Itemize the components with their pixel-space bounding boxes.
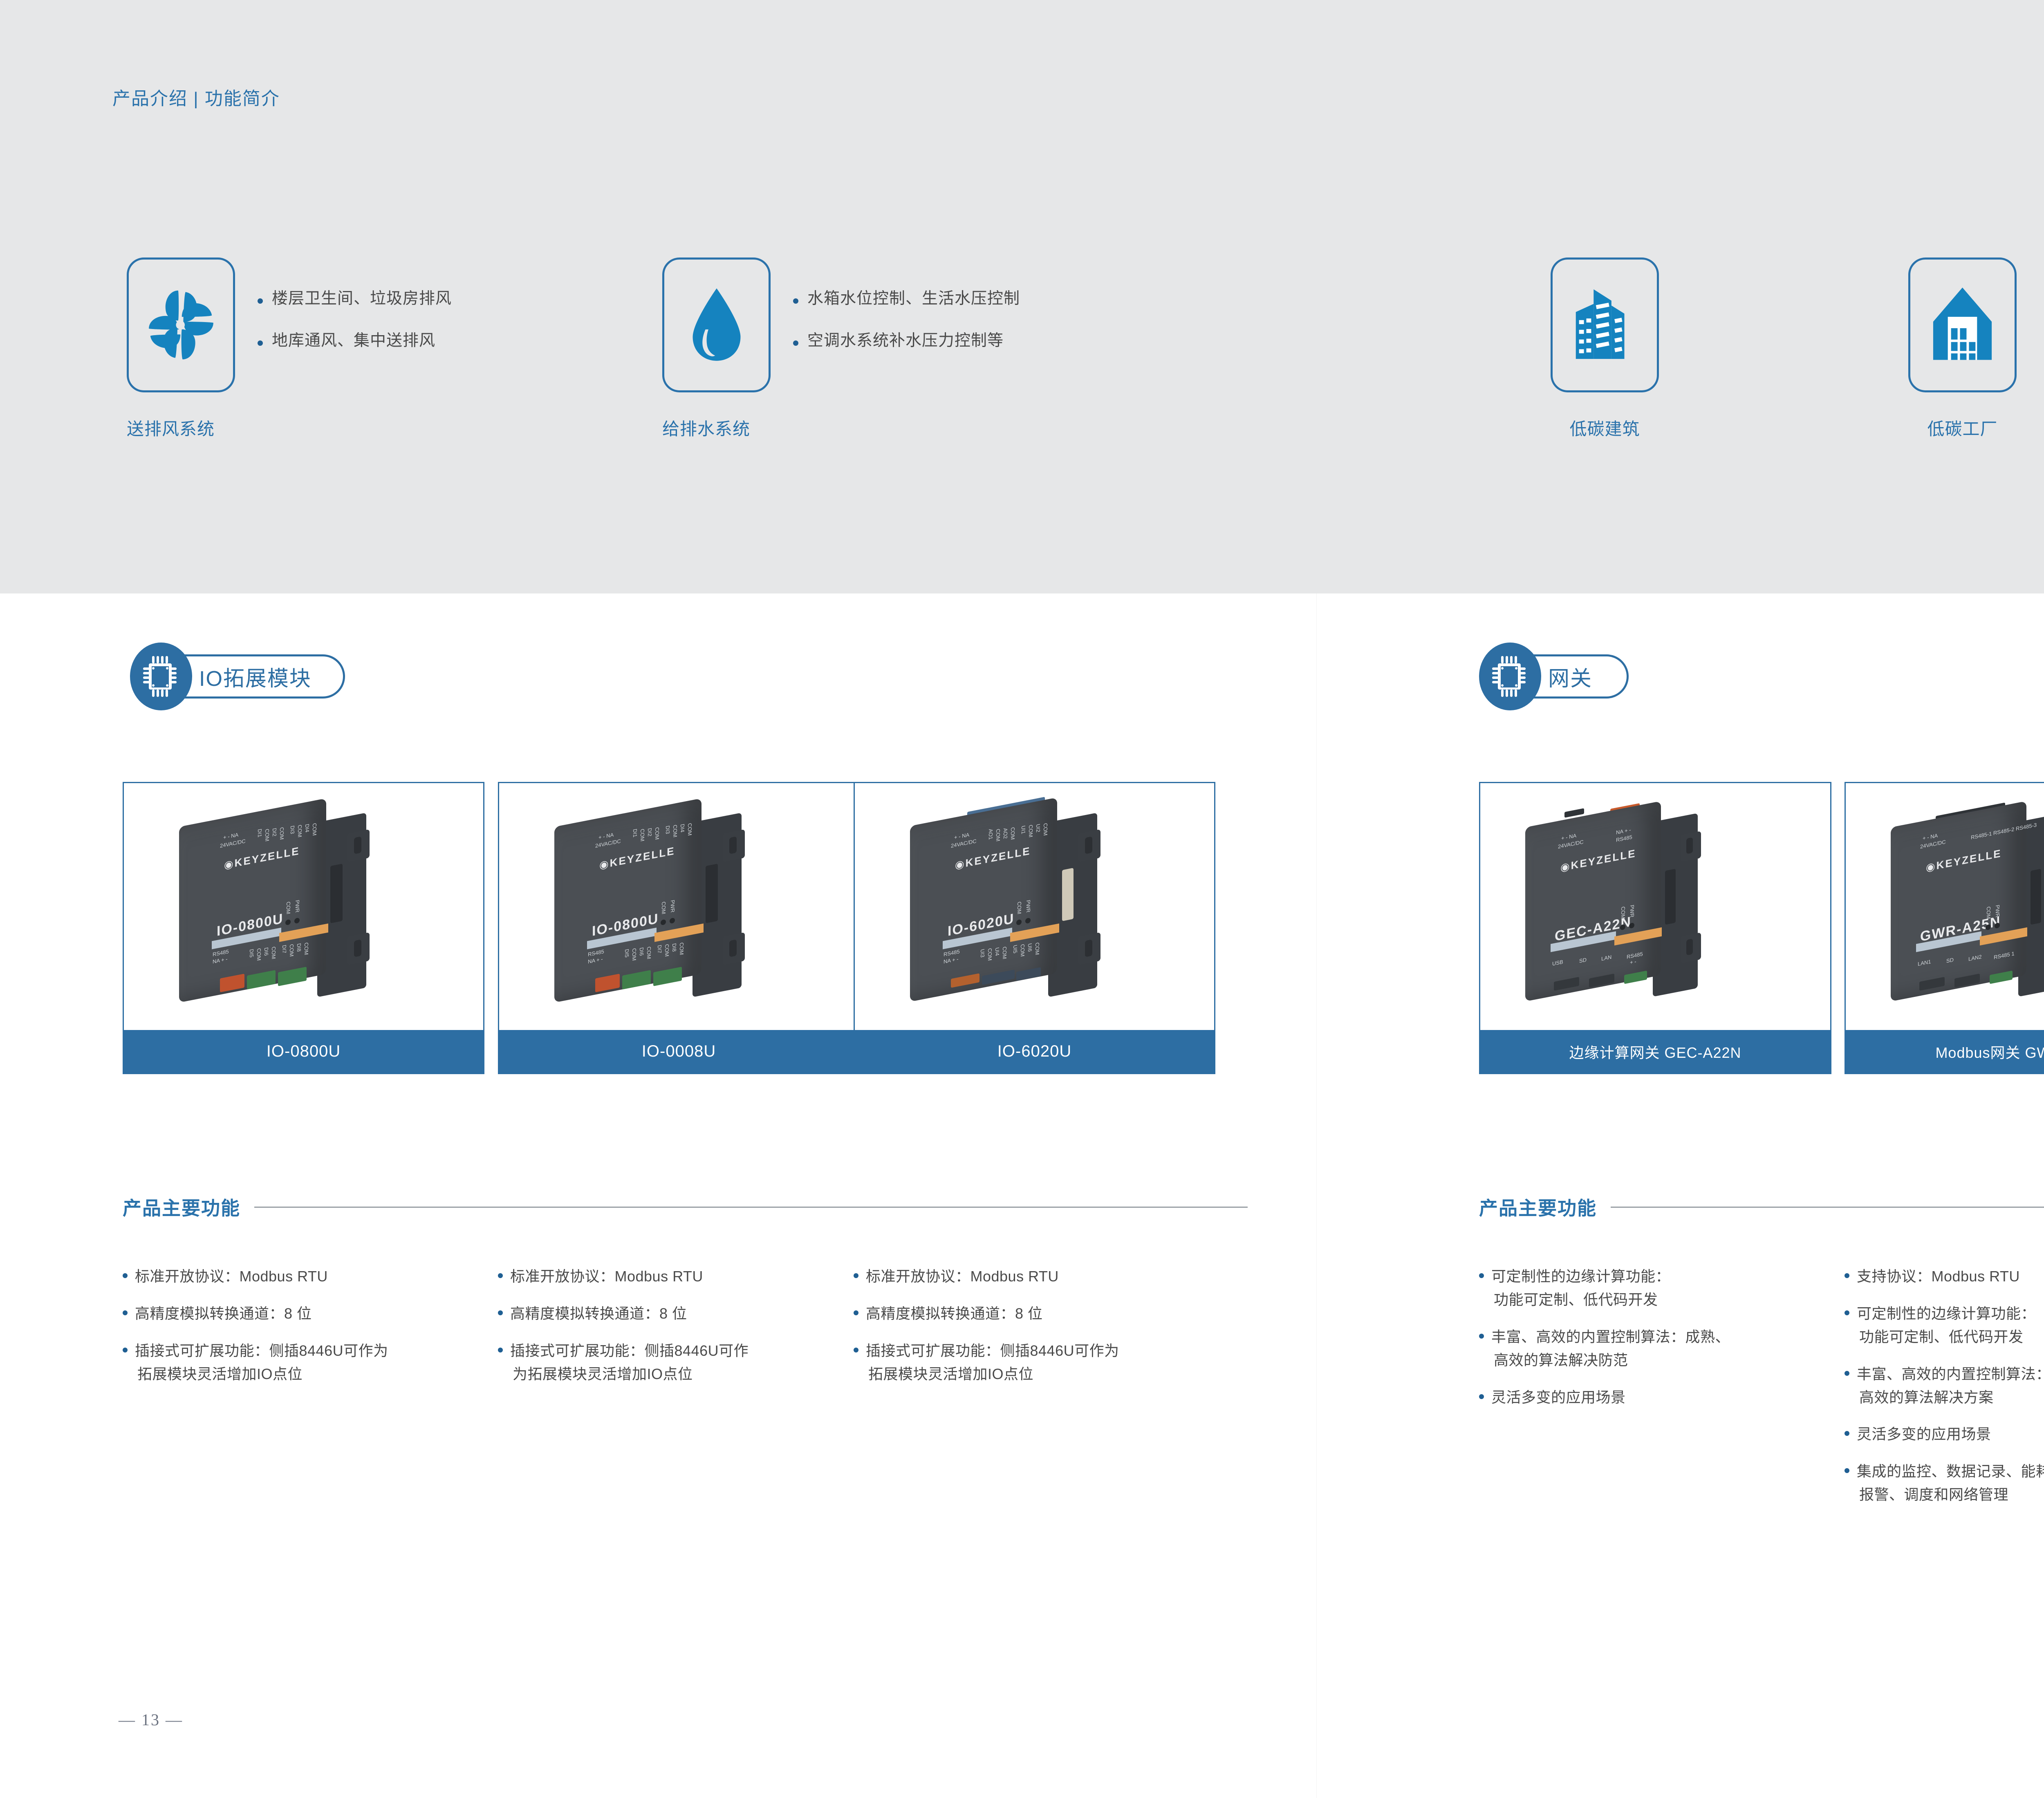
application-caption-water: 给排水系统 xyxy=(662,415,771,440)
bullet-dot-icon xyxy=(854,1273,858,1278)
feature-text: 高精度模拟转换通道：8 位 xyxy=(866,1302,1043,1326)
feature-item: 插接式可扩展功能：侧插8446U可作为 拓展模块灵活增加IO点位 xyxy=(854,1339,1213,1386)
feature-text-line1: 丰富、高效的内置控制算法：成熟、 xyxy=(1491,1328,1730,1345)
bullet-dot-icon xyxy=(1845,1273,1849,1278)
feature-item: 丰富、高效的内置控制算法：成熟、 高效的算法解决方案 xyxy=(1845,1363,2044,1409)
bullet-dot-icon xyxy=(1479,1273,1484,1278)
product-image-io-0800u: + - NA 24VAC/DC DI1 COM DI2 COM DI3 COM … xyxy=(124,783,483,1030)
features-header-left: 产品主要功能 xyxy=(123,1193,1248,1220)
feature-text-line2: 拓展模块灵活增加IO点位 xyxy=(866,1363,1119,1386)
section-badge-gateway: 网关 xyxy=(1479,643,1629,710)
feature-text: 丰富、高效的内置控制算法：成熟、 高效的算法解决方案 xyxy=(1857,1363,2044,1409)
feature-item: 插接式可扩展功能：侧插8446U可作 为拓展模块灵活增加IO点位 xyxy=(498,1339,858,1386)
feature-item: 丰富、高效的内置控制算法：成熟、 高效的算法解决防范 xyxy=(1479,1326,1831,1372)
bullet-dot-icon xyxy=(1479,1394,1484,1399)
feature-item: 集成的监控、数据记录、能耗计量、 报警、调度和网络管理 xyxy=(1845,1460,2044,1507)
office-building-icon xyxy=(1566,284,1644,366)
product-label-gec-a22n: 边缘计算网关 GEC-A22N xyxy=(1480,1030,1830,1073)
product-image-io-6020u: + - NA 24VAC/DC AO1 COM AO2 COM UI1 COM … xyxy=(855,783,1214,1030)
feature-text: 灵活多变的应用场景 xyxy=(1857,1423,1991,1446)
feature-text-line1: 插接式可扩展功能：侧插8446U可作为 xyxy=(866,1342,1119,1359)
device-render: + - NA 24VAC/DC NA + - RS485 ◉KEYZELLE G… xyxy=(1509,799,1795,1004)
bullet-dot-icon xyxy=(123,1348,128,1352)
office-building-icon-frame xyxy=(1551,257,1659,392)
application-caption-ventilation: 送排风系统 xyxy=(127,415,235,440)
feature-text: 高精度模拟转换通道：8 位 xyxy=(135,1302,312,1326)
application-bullets-ventilation: 楼层卫生间、垃圾房排风 地库通风、集中送排风 xyxy=(258,289,452,351)
feature-item: 灵活多变的应用场景 xyxy=(1479,1386,1831,1409)
feature-item: 插接式可扩展功能：侧插8446U可作为 拓展模块灵活增加IO点位 xyxy=(123,1339,482,1386)
bullet-dot-icon xyxy=(1845,1431,1849,1436)
bullet-item: 楼层卫生间、垃圾房排风 xyxy=(258,289,452,309)
fan-icon xyxy=(144,286,218,364)
bullet-dot-icon xyxy=(854,1348,858,1352)
bullet-dot-icon xyxy=(793,298,798,304)
section-badge-label-gateway: 网关 xyxy=(1548,661,1592,692)
bullet-dot-icon xyxy=(793,340,798,346)
bullet-dot-icon xyxy=(1845,1310,1849,1315)
features-column-1: 标准开放协议：Modbus RTU 高精度模拟转换通道：8 位 插接式可扩展功能… xyxy=(123,1265,482,1400)
feature-text-line1: 插接式可扩展功能：侧插8446U可作为 xyxy=(135,1342,388,1359)
product-card-io-0008u[interactable]: + - NA 24VAC/DC DI1 COM DI2 COM DI3 COM … xyxy=(498,782,860,1074)
feature-text: 插接式可扩展功能：侧插8446U可作为 拓展模块灵活增加IO点位 xyxy=(866,1339,1119,1386)
factory-icon-frame xyxy=(1908,257,2017,392)
feature-item: 标准开放协议：Modbus RTU xyxy=(123,1265,482,1288)
application-block-ventilation: 送排风系统 楼层卫生间、垃圾房排风 地库通风、集中送排风 xyxy=(127,257,235,440)
chip-icon xyxy=(142,654,180,699)
feature-text-line2: 功能可定制、低代码开发 xyxy=(1491,1288,1670,1312)
water-drop-icon-frame xyxy=(662,257,771,392)
features-column-5: 支持协议：Modbus RTU 可定制性的边缘计算功能： 功能可定制、低代码开发… xyxy=(1845,1265,2044,1520)
features-column-2: 标准开放协议：Modbus RTU 高精度模拟转换通道：8 位 插接式可扩展功能… xyxy=(498,1265,858,1400)
application-bullets-water: 水箱水位控制、生活水压控制 空调水系统补水压力控制等 xyxy=(793,289,1020,351)
feature-item: 可定制性的边缘计算功能： 功能可定制、低代码开发 xyxy=(1479,1265,1831,1312)
bullet-dot-icon xyxy=(258,298,263,304)
feature-text-line1: 可定制性的边缘计算功能： xyxy=(1857,1305,2036,1322)
feature-text-line2: 高效的算法解决方案 xyxy=(1857,1386,2044,1409)
feature-text: 高精度模拟转换通道：8 位 xyxy=(510,1302,687,1326)
product-card-io-0800u[interactable]: + - NA 24VAC/DC DI1 COM DI2 COM DI3 COM … xyxy=(123,782,484,1074)
bullet-dot-icon xyxy=(498,1273,503,1278)
page-spine-divider xyxy=(1316,593,1317,1798)
feature-text: 插接式可扩展功能：侧插8446U可作 为拓展模块灵活增加IO点位 xyxy=(510,1339,749,1386)
page-header-left: 产品介绍 | 功能简介 xyxy=(112,84,280,110)
features-header-right: 产品主要功能 xyxy=(1479,1193,2044,1220)
feature-text-line2: 高效的算法解决防范 xyxy=(1491,1349,1730,1372)
product-label-io-0800u: IO-0800U xyxy=(124,1030,483,1073)
bullet-dot-icon xyxy=(1845,1371,1849,1376)
feature-text-line2: 为拓展模块灵活增加IO点位 xyxy=(510,1363,749,1386)
factory-icon xyxy=(1927,284,1998,366)
scenario-block-factory: 低碳工厂 xyxy=(1908,257,2017,440)
product-image-io-0008u: + - NA 24VAC/DC DI1 COM DI2 COM DI3 COM … xyxy=(499,783,858,1030)
features-title-left: 产品主要功能 xyxy=(123,1193,240,1220)
bullet-dot-icon xyxy=(123,1310,128,1315)
bullet-text: 空调水系统补水压力控制等 xyxy=(807,331,1004,351)
water-drop-icon xyxy=(686,286,747,364)
feature-text: 标准开放协议：Modbus RTU xyxy=(510,1265,703,1288)
chip-icon xyxy=(1491,654,1529,699)
feature-item: 高精度模拟转换通道：8 位 xyxy=(498,1302,858,1326)
feature-item: 高精度模拟转换通道：8 位 xyxy=(123,1302,482,1326)
features-rule-right xyxy=(1611,1207,2044,1208)
device-render: + - NA 24VAC/DC RS485-1 RS485-2 RS485-3 … xyxy=(1874,799,2044,1004)
features-rule-left xyxy=(254,1207,1248,1208)
features-title-right: 产品主要功能 xyxy=(1479,1193,1597,1220)
feature-item: 可定制性的边缘计算功能： 功能可定制、低代码开发 xyxy=(1845,1302,2044,1349)
bullet-item: 空调水系统补水压力控制等 xyxy=(793,331,1020,351)
chip-icon-circle xyxy=(1479,643,1541,710)
product-label-gwr-a25n: Modbus网关 GWR-A25N xyxy=(1846,1030,2044,1073)
feature-item: 灵活多变的应用场景 xyxy=(1845,1423,2044,1446)
application-block-water: 给排水系统 水箱水位控制、生活水压控制 空调水系统补水压力控制等 xyxy=(662,257,771,440)
scenario-block-building: 低碳建筑 xyxy=(1551,257,1659,440)
feature-text: 支持协议：Modbus RTU xyxy=(1857,1265,2020,1288)
page-number-left: — 13 — xyxy=(119,1710,183,1729)
product-label-io-6020u: IO-6020U xyxy=(855,1030,1214,1073)
feature-text: 标准开放协议：Modbus RTU xyxy=(866,1265,1059,1288)
fan-icon-frame xyxy=(127,257,235,392)
feature-text: 可定制性的边缘计算功能： 功能可定制、低代码开发 xyxy=(1857,1302,2036,1349)
feature-item: 标准开放协议：Modbus RTU xyxy=(498,1265,858,1288)
bullet-text: 地库通风、集中送排风 xyxy=(272,331,435,351)
device-render: + - NA 24VAC/DC AO1 COM AO2 COM UI1 COM … xyxy=(894,795,1180,1004)
feature-text-line1: 插接式可扩展功能：侧插8446U可作 xyxy=(510,1342,749,1359)
product-card-gec-a22n[interactable]: + - NA 24VAC/DC NA + - RS485 ◉KEYZELLE G… xyxy=(1479,782,1831,1074)
section-badge-io-modules: IO拓展模块 xyxy=(130,643,345,710)
feature-item: 高精度模拟转换通道：8 位 xyxy=(854,1302,1213,1326)
bullet-dot-icon xyxy=(1845,1468,1849,1473)
section-badge-label-io: IO拓展模块 xyxy=(199,661,312,692)
feature-text-line1: 可定制性的边缘计算功能： xyxy=(1491,1268,1670,1285)
feature-text-line1: 集成的监控、数据记录、能耗计量、 xyxy=(1857,1463,2044,1480)
product-card-gwr-a25n[interactable]: + - NA 24VAC/DC RS485-1 RS485-2 RS485-3 … xyxy=(1845,782,2044,1074)
feature-text: 可定制性的边缘计算功能： 功能可定制、低代码开发 xyxy=(1491,1265,1670,1312)
feature-text-line2: 功能可定制、低代码开发 xyxy=(1857,1326,2036,1349)
device-render: + - NA 24VAC/DC DI1 COM DI2 COM DI3 COM … xyxy=(538,799,824,1004)
chip-icon-circle xyxy=(130,643,192,710)
feature-item: 支持协议：Modbus RTU xyxy=(1845,1265,2044,1288)
bullet-dot-icon xyxy=(258,340,263,346)
feature-text: 插接式可扩展功能：侧插8446U可作为 拓展模块灵活增加IO点位 xyxy=(135,1339,388,1386)
feature-text-line2: 报警、调度和网络管理 xyxy=(1857,1483,2044,1507)
feature-text: 丰富、高效的内置控制算法：成熟、 高效的算法解决防范 xyxy=(1491,1326,1730,1372)
bullet-dot-icon xyxy=(854,1310,858,1315)
features-column-4: 可定制性的边缘计算功能： 功能可定制、低代码开发 丰富、高效的内置控制算法：成熟… xyxy=(1479,1265,1831,1423)
scenario-caption-building: 低碳建筑 xyxy=(1551,415,1659,440)
feature-text: 标准开放协议：Modbus RTU xyxy=(135,1265,328,1288)
bullet-item: 地库通风、集中送排风 xyxy=(258,331,452,351)
product-card-io-6020u[interactable]: + - NA 24VAC/DC AO1 COM AO2 COM UI1 COM … xyxy=(854,782,1215,1074)
feature-text: 灵活多变的应用场景 xyxy=(1491,1386,1626,1409)
feature-text: 集成的监控、数据记录、能耗计量、 报警、调度和网络管理 xyxy=(1857,1460,2044,1507)
bullet-dot-icon xyxy=(1479,1334,1484,1339)
bullet-item: 水箱水位控制、生活水压控制 xyxy=(793,289,1020,309)
bullet-dot-icon xyxy=(498,1348,503,1352)
bullet-text: 水箱水位控制、生活水压控制 xyxy=(807,289,1020,309)
product-label-io-0008u: IO-0008U xyxy=(499,1030,858,1073)
feature-text-line2: 拓展模块灵活增加IO点位 xyxy=(135,1363,388,1386)
feature-text-line1: 丰富、高效的内置控制算法：成熟、 xyxy=(1857,1366,2044,1382)
bullet-dot-icon xyxy=(498,1310,503,1315)
scenario-caption-factory: 低碳工厂 xyxy=(1908,415,2017,440)
bullet-text: 楼层卫生间、垃圾房排风 xyxy=(272,289,452,309)
device-render: + - NA 24VAC/DC DI1 COM DI2 COM DI3 COM … xyxy=(163,799,449,1004)
product-image-gwr-a25n: + - NA 24VAC/DC RS485-1 RS485-2 RS485-3 … xyxy=(1846,783,2044,1030)
product-image-gec-a22n: + - NA 24VAC/DC NA + - RS485 ◉KEYZELLE G… xyxy=(1480,783,1830,1030)
features-column-3: 标准开放协议：Modbus RTU 高精度模拟转换通道：8 位 插接式可扩展功能… xyxy=(854,1265,1213,1400)
bullet-dot-icon xyxy=(123,1273,128,1278)
feature-item: 标准开放协议：Modbus RTU xyxy=(854,1265,1213,1288)
